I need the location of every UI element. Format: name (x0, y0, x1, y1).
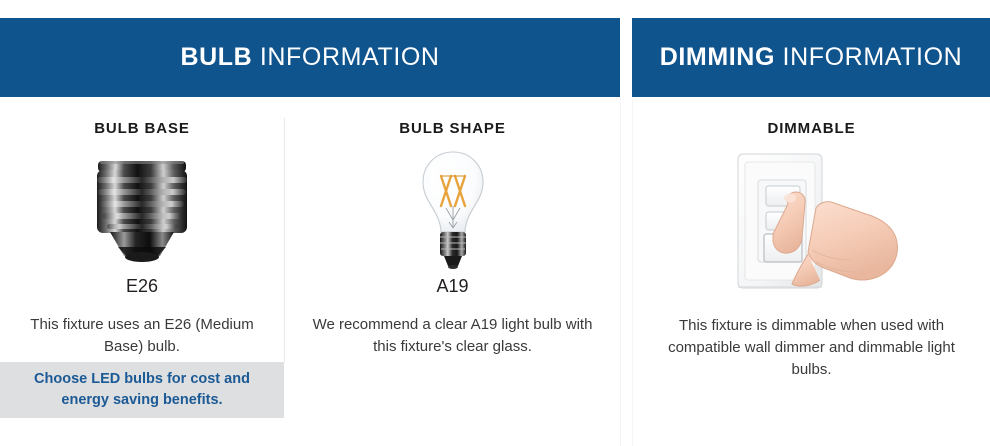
dimming-information-title-strong: DIMMING (660, 43, 775, 71)
bulb-shape-description: We recommend a clear A19 light bulb with… (285, 314, 620, 358)
bulb-base-figure (0, 143, 284, 278)
panel-divider-left (620, 100, 621, 446)
bulb-base-description: This fixture uses an E26 (Medium Base) b… (0, 314, 284, 358)
dimmable-column: DIMMABLE (633, 97, 990, 380)
bulb-shape-column: BULB SHAPE (285, 97, 620, 358)
dimming-information-title-rest: INFORMATION (775, 43, 962, 71)
bulb-shape-spec: A19 (285, 276, 620, 297)
bulb-information-title-rest: INFORMATION (252, 43, 439, 71)
bulb-base-title: BULB BASE (0, 120, 284, 137)
led-callout-text: Choose LED bulbs for cost and energy sav… (0, 369, 284, 411)
dimming-information-header: DIMMING INFORMATION (632, 18, 990, 97)
dimming-information-title: DIMMING INFORMATION (660, 43, 963, 72)
bulb-shape-figure (285, 143, 620, 278)
bulb-information-title-strong: BULB (180, 43, 252, 71)
dimmable-description: This fixture is dimmable when used with … (633, 315, 990, 380)
bulb-information-header: BULB INFORMATION (0, 18, 620, 97)
dimmable-title: DIMMABLE (633, 120, 990, 137)
wall-dimmer-switch-photo-icon (716, 146, 908, 292)
a19-bulb-photo-icon (413, 148, 493, 274)
header-bar-row: BULB INFORMATION DIMMING INFORMATION (0, 18, 990, 97)
bulb-information-title: BULB INFORMATION (180, 43, 439, 72)
dimmable-figure (633, 145, 990, 293)
led-callout-box: Choose LED bulbs for cost and energy sav… (0, 362, 284, 418)
bulb-base-spec: E26 (0, 276, 284, 297)
bulb-base-column: BULB BASE (0, 97, 284, 358)
bulb-shape-title: BULB SHAPE (285, 120, 620, 137)
bulb-base-photo-icon (88, 155, 196, 267)
